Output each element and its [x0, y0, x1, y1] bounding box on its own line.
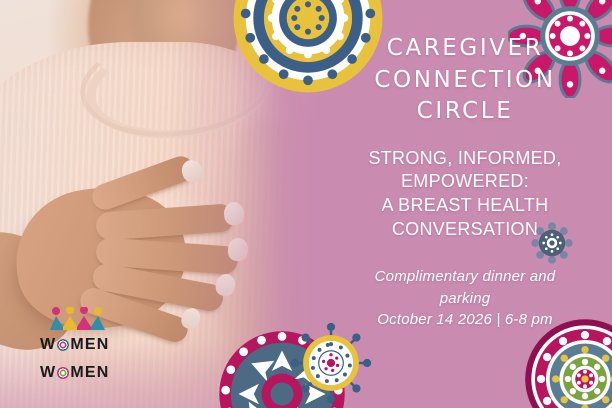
poster-text-column: CAREGIVER CONNECTION CIRCLE STRONG, INFO… — [318, 0, 612, 408]
details-line-2: parking — [318, 288, 612, 309]
crown-svg — [46, 307, 118, 331]
logo-mandala-o-icon — [57, 339, 69, 351]
logo-line-2: W MEN — [40, 365, 150, 381]
women-for-women-logo: W MEN W MEN — [40, 307, 150, 373]
logo-line-2-prefix: W — [40, 365, 56, 381]
logo-mandala-o-icon — [57, 367, 69, 379]
title-line-2: CONNECTION — [318, 65, 612, 97]
subtitle-line-2: EMPOWERED: — [318, 170, 612, 194]
event-details: Complimentary dinner and parking October… — [318, 266, 612, 330]
logo-line-1-suffix: MEN — [70, 337, 109, 353]
mandala-dot-icon — [530, 221, 574, 265]
subtitle-line-3: A BREAST HEALTH — [318, 194, 612, 218]
subtitle-line-1: STRONG, INFORMED, — [318, 147, 612, 171]
details-line-3: October 14 2026 | 6-8 pm — [318, 309, 612, 330]
event-poster: W MEN W MEN — [0, 0, 612, 408]
page-title: CAREGIVER CONNECTION CIRCLE — [318, 33, 612, 128]
women-crown-icon — [46, 307, 118, 331]
title-line-3: CIRCLE — [318, 96, 612, 128]
logo-line-2-suffix: MEN — [70, 365, 109, 381]
logo-line-1: W MEN — [40, 337, 150, 353]
mandala-small-accent — [530, 221, 574, 265]
title-line-1: CAREGIVER — [318, 33, 612, 65]
details-line-1: Complimentary dinner and — [318, 266, 612, 287]
logo-line-1-prefix: W — [40, 337, 56, 353]
